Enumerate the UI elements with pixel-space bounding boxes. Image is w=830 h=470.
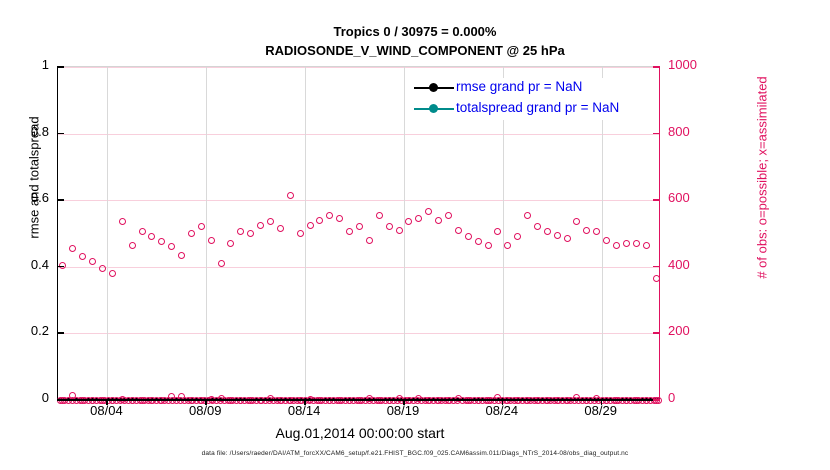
data-point xyxy=(445,212,452,219)
left-tick-mark xyxy=(57,399,64,401)
data-point xyxy=(208,237,215,244)
data-point xyxy=(396,227,403,234)
x-tick-mark xyxy=(502,399,504,405)
data-point xyxy=(564,235,571,242)
left-tick-mark xyxy=(57,199,64,201)
data-point xyxy=(277,225,284,232)
figure-canvas: Tropics 0 / 30975 = 0.000% RADIOSONDE_V_… xyxy=(0,0,830,470)
data-point xyxy=(633,240,640,247)
legend-item-totalspread[interactable]: totalspread grand pr = NaN xyxy=(408,99,656,119)
left-tick-mark xyxy=(57,133,64,135)
data-point xyxy=(307,222,314,229)
data-point xyxy=(99,265,106,272)
right-tick-mark xyxy=(653,332,660,334)
right-tick-mark xyxy=(653,133,660,135)
right-tick-label: 1000 xyxy=(668,57,697,72)
data-point xyxy=(109,270,116,277)
right-tick-label: 200 xyxy=(668,323,690,338)
data-point xyxy=(326,212,333,219)
data-point xyxy=(653,275,660,282)
left-tick-mark xyxy=(57,66,64,68)
legend-marker-totalspread xyxy=(429,104,438,113)
x-tick-label: 08/09 xyxy=(170,403,240,418)
data-point xyxy=(475,238,482,245)
data-point xyxy=(188,230,195,237)
right-axis-label: # of obs: o=possible; x=assimilated xyxy=(755,28,770,328)
x-tick-mark xyxy=(304,399,306,405)
x-tick-mark xyxy=(601,399,603,405)
data-point xyxy=(643,242,650,249)
data-point xyxy=(455,227,462,234)
data-point xyxy=(583,227,590,234)
legend-marker-rmse xyxy=(429,83,438,92)
right-tick-mark xyxy=(653,399,660,401)
legend-item-rmse[interactable]: rmse grand pr = NaN xyxy=(408,78,656,98)
x-tick-label: 08/19 xyxy=(368,403,438,418)
right-tick-mark xyxy=(653,66,660,68)
legend-box: rmse grand pr = NaN totalspread grand pr… xyxy=(408,78,656,120)
horizontal-gridline xyxy=(58,333,659,334)
vertical-gridline xyxy=(107,67,108,398)
x-tick-mark xyxy=(403,399,405,405)
data-point xyxy=(218,260,225,267)
left-tick-label: 0.2 xyxy=(3,323,49,338)
data-point xyxy=(613,242,620,249)
x-tick-label: 08/14 xyxy=(269,403,339,418)
data-point xyxy=(504,242,511,249)
data-point xyxy=(554,232,561,239)
data-point xyxy=(435,217,442,224)
horizontal-gridline xyxy=(58,67,659,68)
data-point xyxy=(376,212,383,219)
x-tick-label: 08/24 xyxy=(467,403,537,418)
data-point xyxy=(485,242,492,249)
data-file-footer: data file: /Users/raeder/DAI/ATM_forcXX/… xyxy=(0,450,830,457)
left-axis-label: rmse and totalspread xyxy=(27,58,42,298)
horizontal-gridline xyxy=(58,267,659,268)
right-tick-label: 400 xyxy=(668,257,690,272)
legend-label-rmse: rmse grand pr = NaN xyxy=(456,79,582,94)
horizontal-gridline xyxy=(58,134,659,135)
vertical-gridline xyxy=(305,67,306,398)
data-point xyxy=(603,237,610,244)
left-tick-mark xyxy=(57,266,64,268)
data-point xyxy=(386,223,393,230)
right-tick-mark xyxy=(653,266,660,268)
data-point xyxy=(129,242,136,249)
data-point xyxy=(524,212,531,219)
chart-title-line1: Tropics 0 / 30975 = 0.000% xyxy=(0,24,830,39)
zero-line-rmse xyxy=(58,399,659,401)
data-point xyxy=(287,192,294,199)
x-tick-mark xyxy=(205,399,207,405)
horizontal-gridline xyxy=(58,200,659,201)
left-tick-mark xyxy=(57,332,64,334)
data-point xyxy=(297,230,304,237)
vertical-gridline xyxy=(404,67,405,398)
x-axis-label: Aug.01,2014 00:00:00 start xyxy=(0,425,720,441)
data-point xyxy=(178,252,185,259)
data-point xyxy=(257,222,264,229)
x-tick-label: 08/04 xyxy=(71,403,141,418)
data-point xyxy=(366,237,373,244)
left-tick-label: 0 xyxy=(3,390,49,405)
x-tick-mark xyxy=(106,399,108,405)
data-point xyxy=(139,228,146,235)
right-tick-label: 600 xyxy=(668,190,690,205)
vertical-gridline xyxy=(206,67,207,398)
right-tick-label: 0 xyxy=(668,390,675,405)
right-tick-label: 800 xyxy=(668,124,690,139)
data-point xyxy=(623,240,630,247)
x-tick-label: 08/29 xyxy=(566,403,636,418)
right-tick-mark xyxy=(653,199,660,201)
chart-title-line2: RADIOSONDE_V_WIND_COMPONENT @ 25 hPa xyxy=(0,43,830,58)
legend-label-totalspread: totalspread grand pr = NaN xyxy=(456,100,619,115)
